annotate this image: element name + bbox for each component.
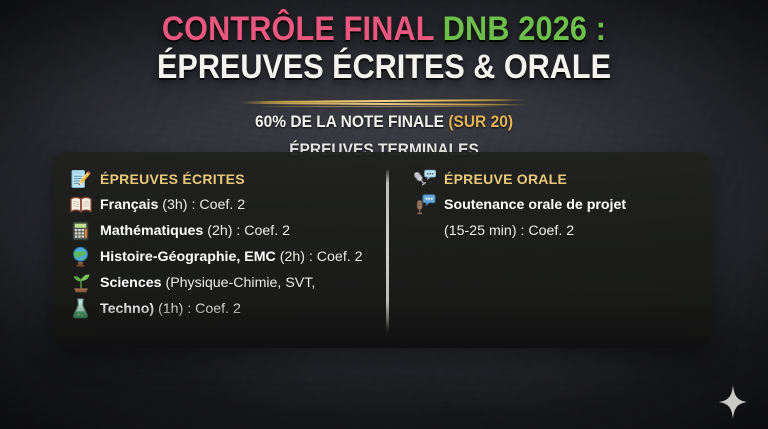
subtitle-highlight-sur-20: (SUR 20) [448, 113, 513, 131]
subject-detail: (2h) : Coef. 2 [276, 249, 363, 265]
heading-epreuves-ecrites: ÉPREUVES ÉCRITES [100, 171, 245, 187]
subject-name: Mathématiques [100, 223, 203, 239]
column-divider [386, 170, 389, 334]
title-part-controle-final: CONTRÔLE FINAL [162, 10, 434, 48]
title-part-dnb-2026: DNB 2026 : [443, 10, 606, 48]
content-panel: ÉPREUVES ÉCRITES [52, 152, 712, 348]
subject-name: Techno) [100, 301, 154, 317]
heading-epreuve-orale: ÉPREUVE ORALE [444, 171, 567, 187]
list-item-text: Sciences (Physique-Chimie, SVT, [100, 274, 315, 292]
subject-detail: (1h) : Coef. 2 [154, 301, 241, 317]
poster-canvas: CONTRÔLE FINAL DNB 2026 : ÉPREUVES ÉCRIT… [0, 0, 768, 429]
title-line-2: ÉPREUVES ÉCRITES & ORALE [38, 49, 729, 85]
list-item-text: Techno) (1h) : Coef. 2 [100, 300, 241, 318]
microphone-bubble-icon [412, 193, 437, 216]
column-epreuve-orale: ÉPREUVE ORALE [386, 152, 712, 348]
subject-detail: (2h) : Coef. 2 [203, 223, 290, 239]
poster-title-block: CONTRÔLE FINAL DNB 2026 : ÉPREUVES ÉCRIT… [0, 11, 768, 85]
list-item-soutenance-duration: (15-25 min) : Coef. 2 [412, 218, 712, 243]
subject-detail: (Physique-Chimie, SVT, [162, 275, 316, 291]
list-item-techno: Techno) (1h) : Coef. 2 [68, 296, 386, 321]
oral-item-detail: (15-25 min) : Coef. 2 [444, 223, 574, 239]
column-heading-row-written: ÉPREUVES ÉCRITES [68, 166, 386, 191]
list-item-histoire-geographie: Histoire-Géographie, EMC (2h) : Coef. 2 [68, 244, 386, 269]
subject-name: Sciences [100, 275, 162, 291]
subtitle-note-finale: 60% DE LA NOTE FINALE (SUR 20) [23, 113, 745, 132]
list-item-mathematiques: Mathématiques (2h) : Coef. 2 [68, 218, 386, 243]
column-epreuves-ecrites: ÉPREUVES ÉCRITES [52, 152, 386, 348]
subtitle-main-text: 60% DE LA NOTE FINALE [255, 113, 444, 131]
list-item-text: Histoire-Géographie, EMC (2h) : Coef. 2 [100, 248, 363, 266]
calculator-icon [68, 219, 93, 242]
seedling-icon [68, 271, 93, 294]
sparkle-star-icon [719, 385, 747, 419]
title-line-1: CONTRÔLE FINAL DNB 2026 : [38, 11, 729, 47]
column-heading-row-oral: ÉPREUVE ORALE [412, 166, 712, 191]
memo-pencil-icon [68, 167, 93, 190]
list-item-sciences: Sciences (Physique-Chimie, SVT, [68, 270, 386, 295]
open-book-icon [68, 193, 93, 216]
microphone-bubble-icon [412, 167, 437, 190]
list-item-soutenance-orale: Soutenance orale de projet [412, 192, 712, 217]
list-item-text: Mathématiques (2h) : Coef. 2 [100, 222, 290, 240]
subject-detail: (3h) : Coef. 2 [158, 197, 245, 213]
flask-icon [68, 297, 93, 320]
oral-item-name: Soutenance orale de projet [444, 197, 626, 213]
list-item-francais: Français (3h) : Coef. 2 [68, 192, 386, 217]
list-item-text: Français (3h) : Coef. 2 [100, 196, 245, 214]
gold-brush-divider [239, 99, 529, 109]
subject-name: Français [100, 197, 158, 213]
list-item-text: Soutenance orale de projet [444, 196, 626, 214]
globe-icon [68, 245, 93, 268]
subject-name: Histoire-Géographie, EMC [100, 249, 276, 265]
